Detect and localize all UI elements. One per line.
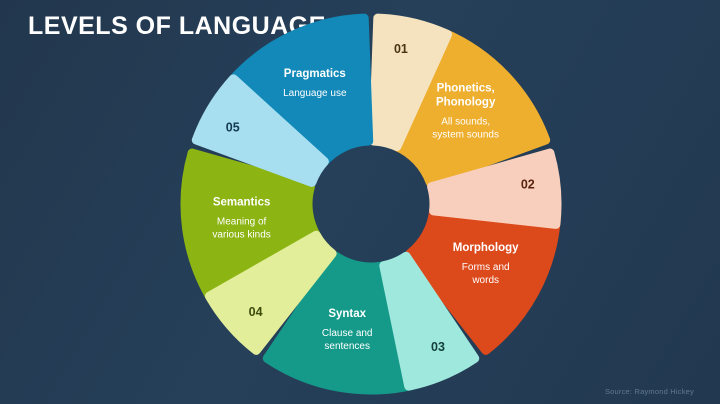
segment-description: Meaning of xyxy=(217,217,267,228)
segment-description: words xyxy=(471,275,499,286)
segment-description: system sounds xyxy=(432,130,499,141)
donut-diagram: 01Phonetics,PhonologyAll sounds,system s… xyxy=(175,8,567,400)
segment-title: Phonology xyxy=(436,97,496,109)
slide-canvas: LEVELS OF LANGUAGE 01Phonetics,Phonology… xyxy=(0,0,720,404)
segment-number-label: 04 xyxy=(249,305,263,319)
segment-description: Clause and xyxy=(322,328,373,339)
segment-number-label: 02 xyxy=(521,178,535,192)
segment-description: sentences xyxy=(324,341,370,352)
segment-title: Syntax xyxy=(328,308,366,320)
segment-title: Semantics xyxy=(213,197,271,209)
segment-title: Phonetics, xyxy=(437,83,495,95)
segment-title: Pragmatics xyxy=(284,68,346,80)
source-attribution: Source: Raymond Hickey xyxy=(605,387,694,396)
segment-description: All sounds, xyxy=(441,117,490,128)
segment-number-label: 05 xyxy=(226,121,240,135)
segment-number-label: 03 xyxy=(431,340,445,354)
segment-description: various kinds xyxy=(212,230,270,241)
segment-title: Morphology xyxy=(453,242,519,254)
segment-description: Language use xyxy=(283,88,347,99)
segment-number-label: 01 xyxy=(394,42,408,56)
segment-description: Forms and xyxy=(462,262,510,273)
